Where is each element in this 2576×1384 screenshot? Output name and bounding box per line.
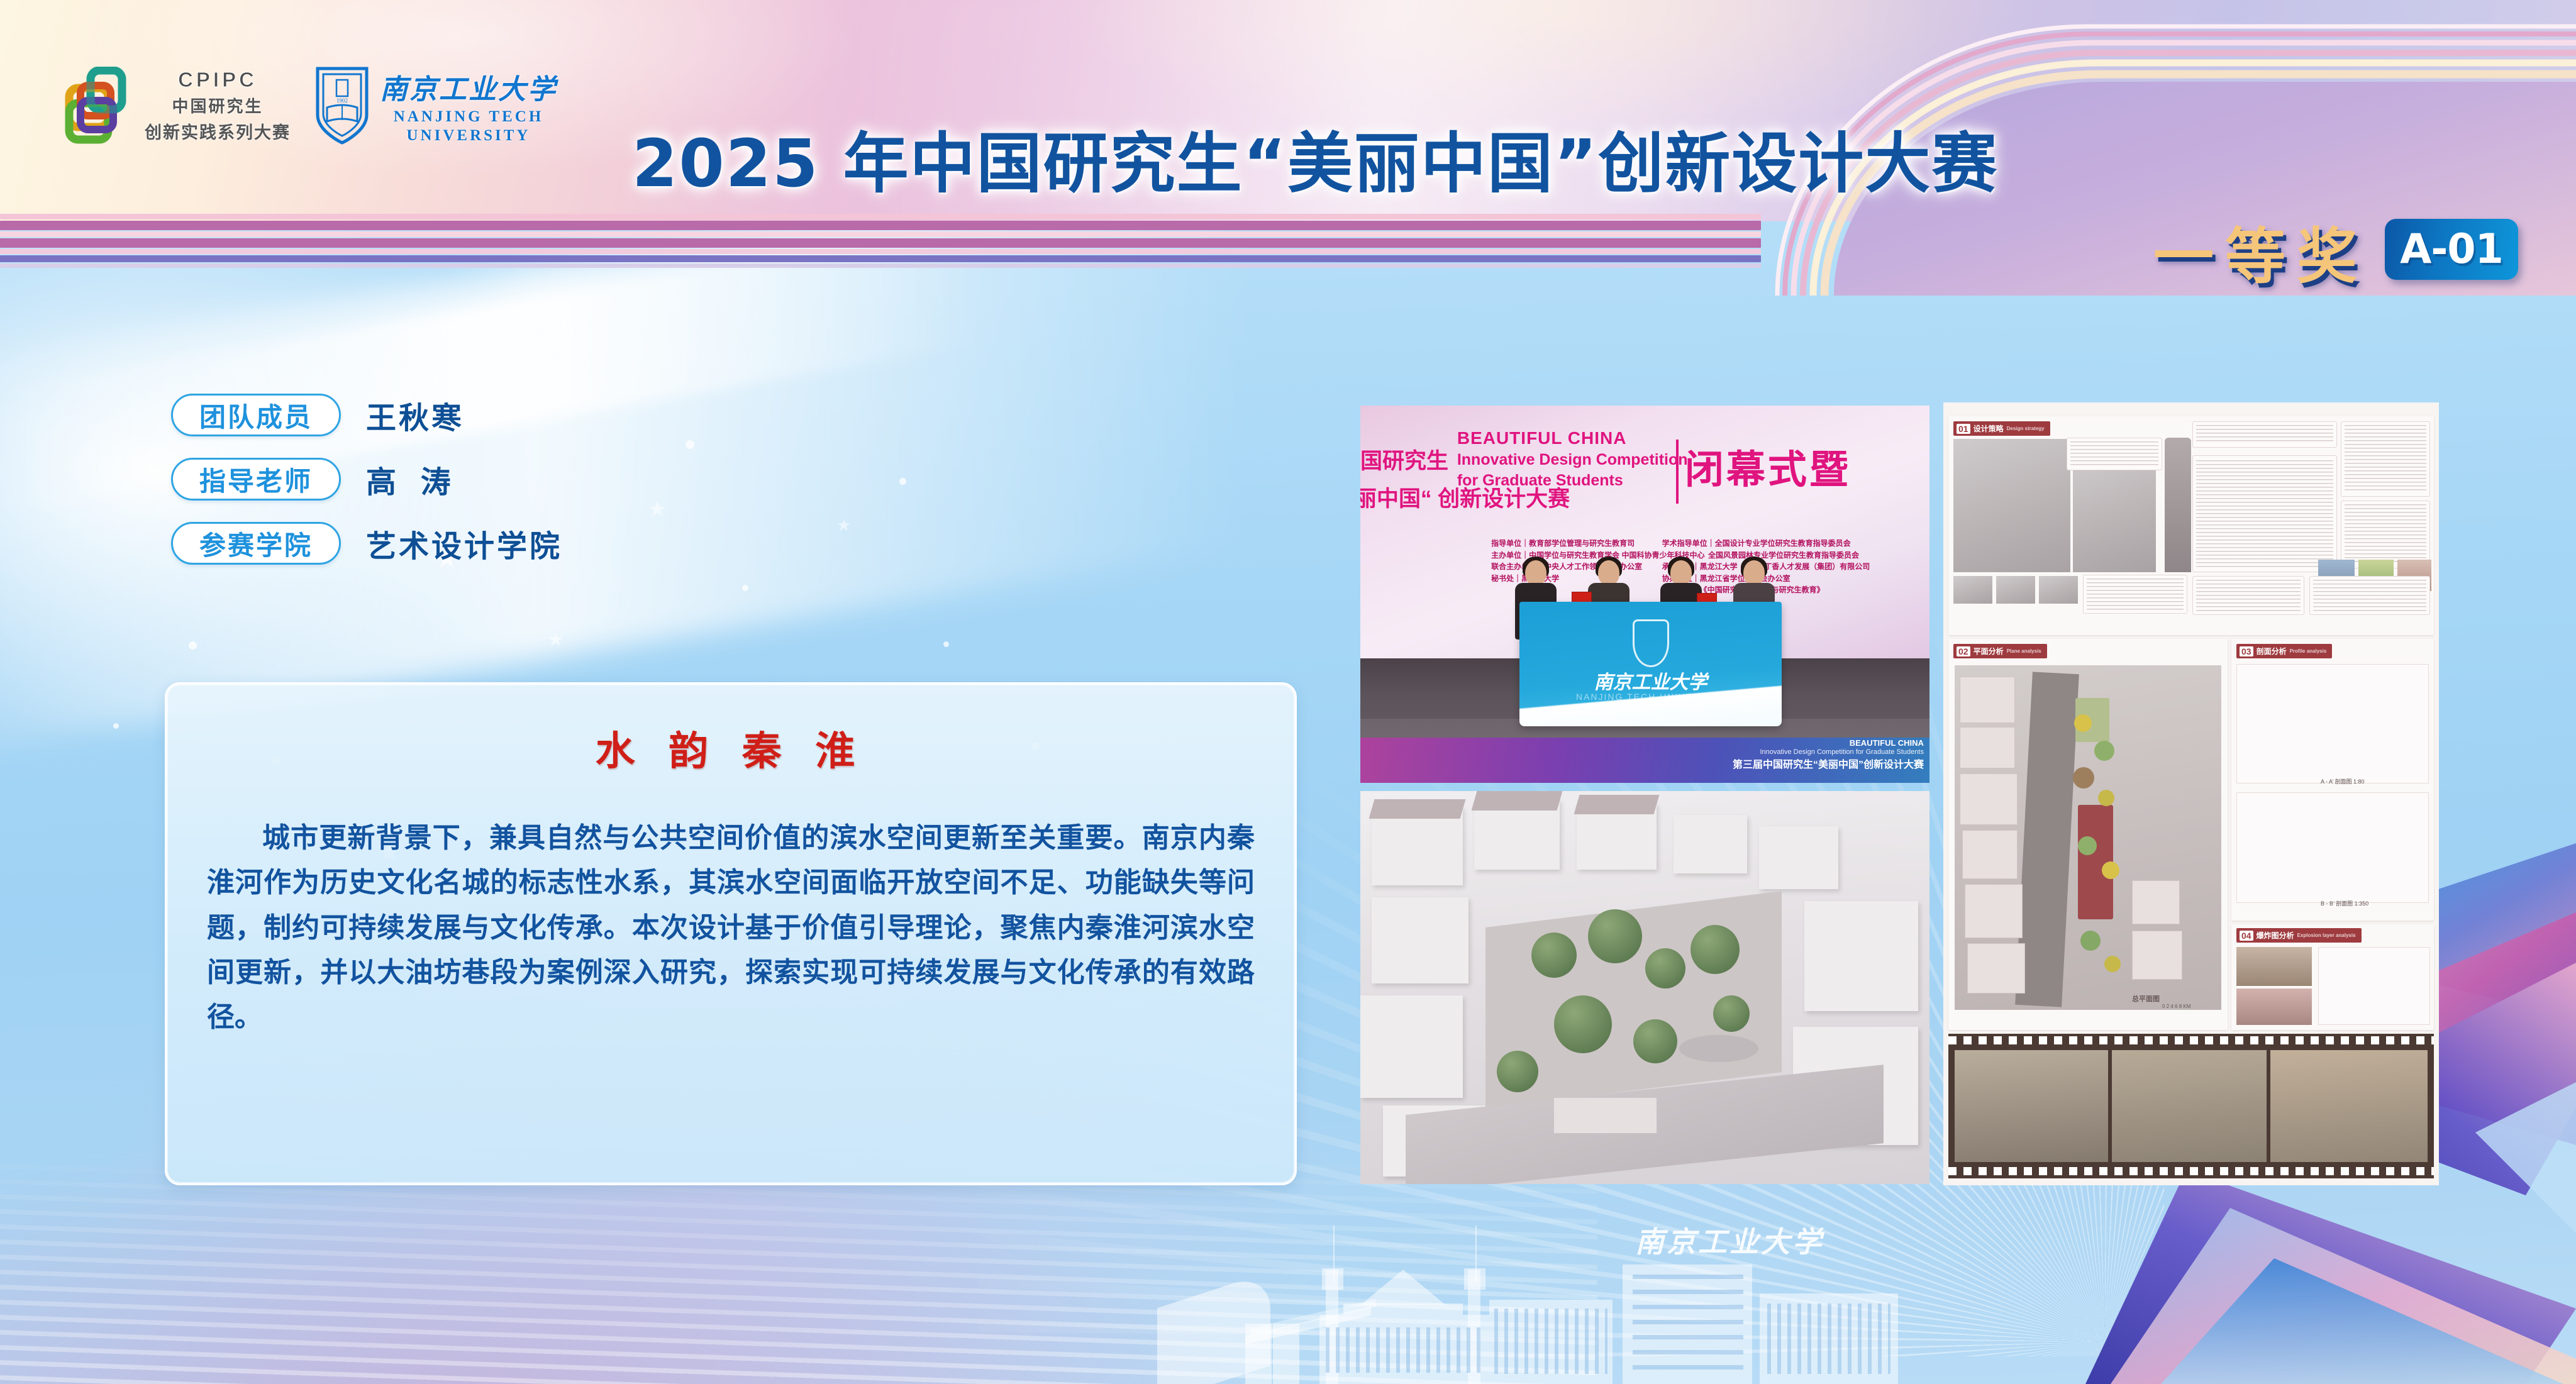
info-label-text: 指导老师 (199, 460, 313, 499)
poster-section-subtitle: Explosion layer analysis (2297, 933, 2356, 938)
info-label-pill: 参赛学院 (171, 522, 341, 565)
info-label-pill: 指导老师 (171, 458, 341, 501)
backdrop-headline: 闭幕式暨 (1685, 438, 1851, 494)
project-description-text: 城市更新背景下，兼具自然与公共空间价值的滨水空间更新至关重要。南京内秦淮河作为历… (207, 816, 1255, 1039)
award-code-badge: A-01 (2385, 219, 2518, 280)
info-value-text: 艺术设计学院 (366, 521, 562, 565)
bokeh-dot (899, 478, 906, 485)
photo-corner-credit: BEAUTIFUL CHINA Innovative Design Compet… (1733, 738, 1924, 772)
section-label-bb: B - B’ 剖面图 1:350 (2321, 899, 2368, 907)
poster-section-tag-04: 04 爆炸图分析 Explosion layer analysis (2236, 928, 2362, 943)
flag-subtext: NANJING TECH UNIVERSITY (1519, 692, 1781, 702)
header-stripe-divider (0, 214, 1761, 270)
plan-caption: 总平面图 (2132, 994, 2160, 1004)
corner-line2: Innovative Design Competition for Gradua… (1733, 748, 1924, 757)
backdrop-en-line3: for Graduate Students (1457, 472, 1623, 490)
poster-section-title: 剖面分析 (2257, 646, 2287, 656)
poster-section-number: 04 (2240, 931, 2253, 941)
section-label-aa: A - A’ 剖面图 1:80 (2321, 777, 2365, 785)
team-info-list: 团队成员 王秋寒 指导老师 高 涛 参赛学院 艺术设计学院 (171, 393, 562, 585)
cpipc-line2: 创新实践系列大赛 (145, 119, 291, 143)
award-code-text: A-01 (2400, 226, 2503, 273)
university-flag: 南京工业大学 NANJING TECH UNIVERSITY (1519, 602, 1781, 726)
info-value-text: 王秋寒 (366, 393, 464, 437)
aerial-render-image (1360, 791, 1929, 1184)
backdrop-en-line1: BEAUTIFUL CHINA (1457, 428, 1627, 448)
poster-section-title: 平面分析 (1974, 646, 2004, 656)
cpipc-mark-icon (62, 67, 136, 145)
campus-skyline-decoration: 南京工业大学 (1157, 1195, 1899, 1384)
cpipc-abbr: CPIPC (145, 68, 291, 92)
project-title: 水 韵 秦 淮 (207, 719, 1255, 777)
design-poster-board: 01 设计策略 Design strategy 02 (1943, 402, 2439, 1185)
university-logo: 1902 南京工业大学 NANJING TECH UNIVERSITY (314, 66, 557, 145)
poster-section-subtitle: Profile analysis (2290, 648, 2327, 654)
corner-line3: 第三届中国研究生“美丽中国”创新设计大赛 (1733, 759, 1924, 772)
logo-group: CPIPC 中国研究生 创新实践系列大赛 1902 南京工业大学 NANJING… (62, 66, 557, 145)
backdrop-en-line2: Innovative Design Competition (1457, 451, 1688, 469)
project-description-card: 水 韵 秦 淮 城市更新背景下，兼具自然与公共空间价值的滨水空间更新至关重要。南… (165, 682, 1297, 1185)
award-level-label: 一等奖 (2153, 208, 2368, 295)
poster-section-tag-01: 01 设计策略 Design strategy (1953, 421, 2050, 436)
star-icon: ★ (836, 516, 851, 535)
ceremony-photo: 国研究生 丽中国“ 创新设计大赛 BEAUTIFUL CHINA Innovat… (1360, 406, 1929, 783)
shield-icon: 1902 (314, 66, 370, 145)
info-label-text: 参赛学院 (199, 524, 313, 563)
page-title: 2025 年中国研究生“美丽中国”创新设计大赛 (632, 110, 1998, 205)
poster-section-subtitle: Plane analysis (2007, 648, 2041, 654)
backdrop-cn-line1: 国研究生 (1360, 443, 1448, 475)
info-label-pill: 团队成员 (171, 394, 341, 436)
bokeh-dot (686, 440, 694, 449)
poster-section-title: 爆炸图分析 (2257, 930, 2294, 941)
info-row-college: 参赛学院 艺术设计学院 (171, 521, 562, 565)
star-icon: ★ (648, 497, 667, 522)
corner-line1: BEAUTIFUL CHINA (1733, 738, 1924, 748)
cpipc-line1: 中国研究生 (145, 94, 291, 117)
star-icon: ★ (547, 629, 564, 651)
bokeh-dot (943, 641, 949, 647)
flag-seal-icon (1633, 619, 1669, 667)
poster-section-number: 02 (1957, 646, 1970, 656)
plan-scale-bar: 0 2 4 6 8 KM (2162, 1004, 2190, 1009)
poster-section-title: 设计策略 (1974, 423, 2004, 434)
bokeh-dot (189, 641, 197, 650)
poster-section-number: 01 (1957, 424, 1970, 434)
bokeh-dot (742, 585, 748, 591)
info-label-text: 团队成员 (199, 396, 313, 435)
skyline-calligraphy: 南京工业大学 (1635, 1219, 1824, 1261)
info-value-text: 高 涛 (366, 457, 453, 501)
svg-text:1902: 1902 (336, 97, 348, 104)
poster-section-tag-03: 03 剖面分析 Profile analysis (2236, 644, 2332, 658)
bokeh-dot (113, 723, 119, 729)
info-row-advisor: 指导老师 高 涛 (171, 457, 562, 501)
cpipc-logo: CPIPC 中国研究生 创新实践系列大赛 (62, 67, 291, 145)
university-name-en-line1: NANJING TECH (394, 108, 544, 126)
poster-section-tag-02: 02 平面分析 Plane analysis (1953, 644, 2047, 658)
university-name-en-line2: UNIVERSITY (407, 127, 531, 145)
poster-section-number: 03 (2240, 646, 2253, 656)
poster-section-subtitle: Design strategy (2007, 426, 2045, 431)
info-row-team-members: 团队成员 王秋寒 (171, 393, 562, 437)
star-icon: ★ (2484, 931, 2514, 970)
flag-text: 南京工业大学 (1519, 667, 1781, 694)
university-name-cn: 南京工业大学 (380, 67, 557, 107)
